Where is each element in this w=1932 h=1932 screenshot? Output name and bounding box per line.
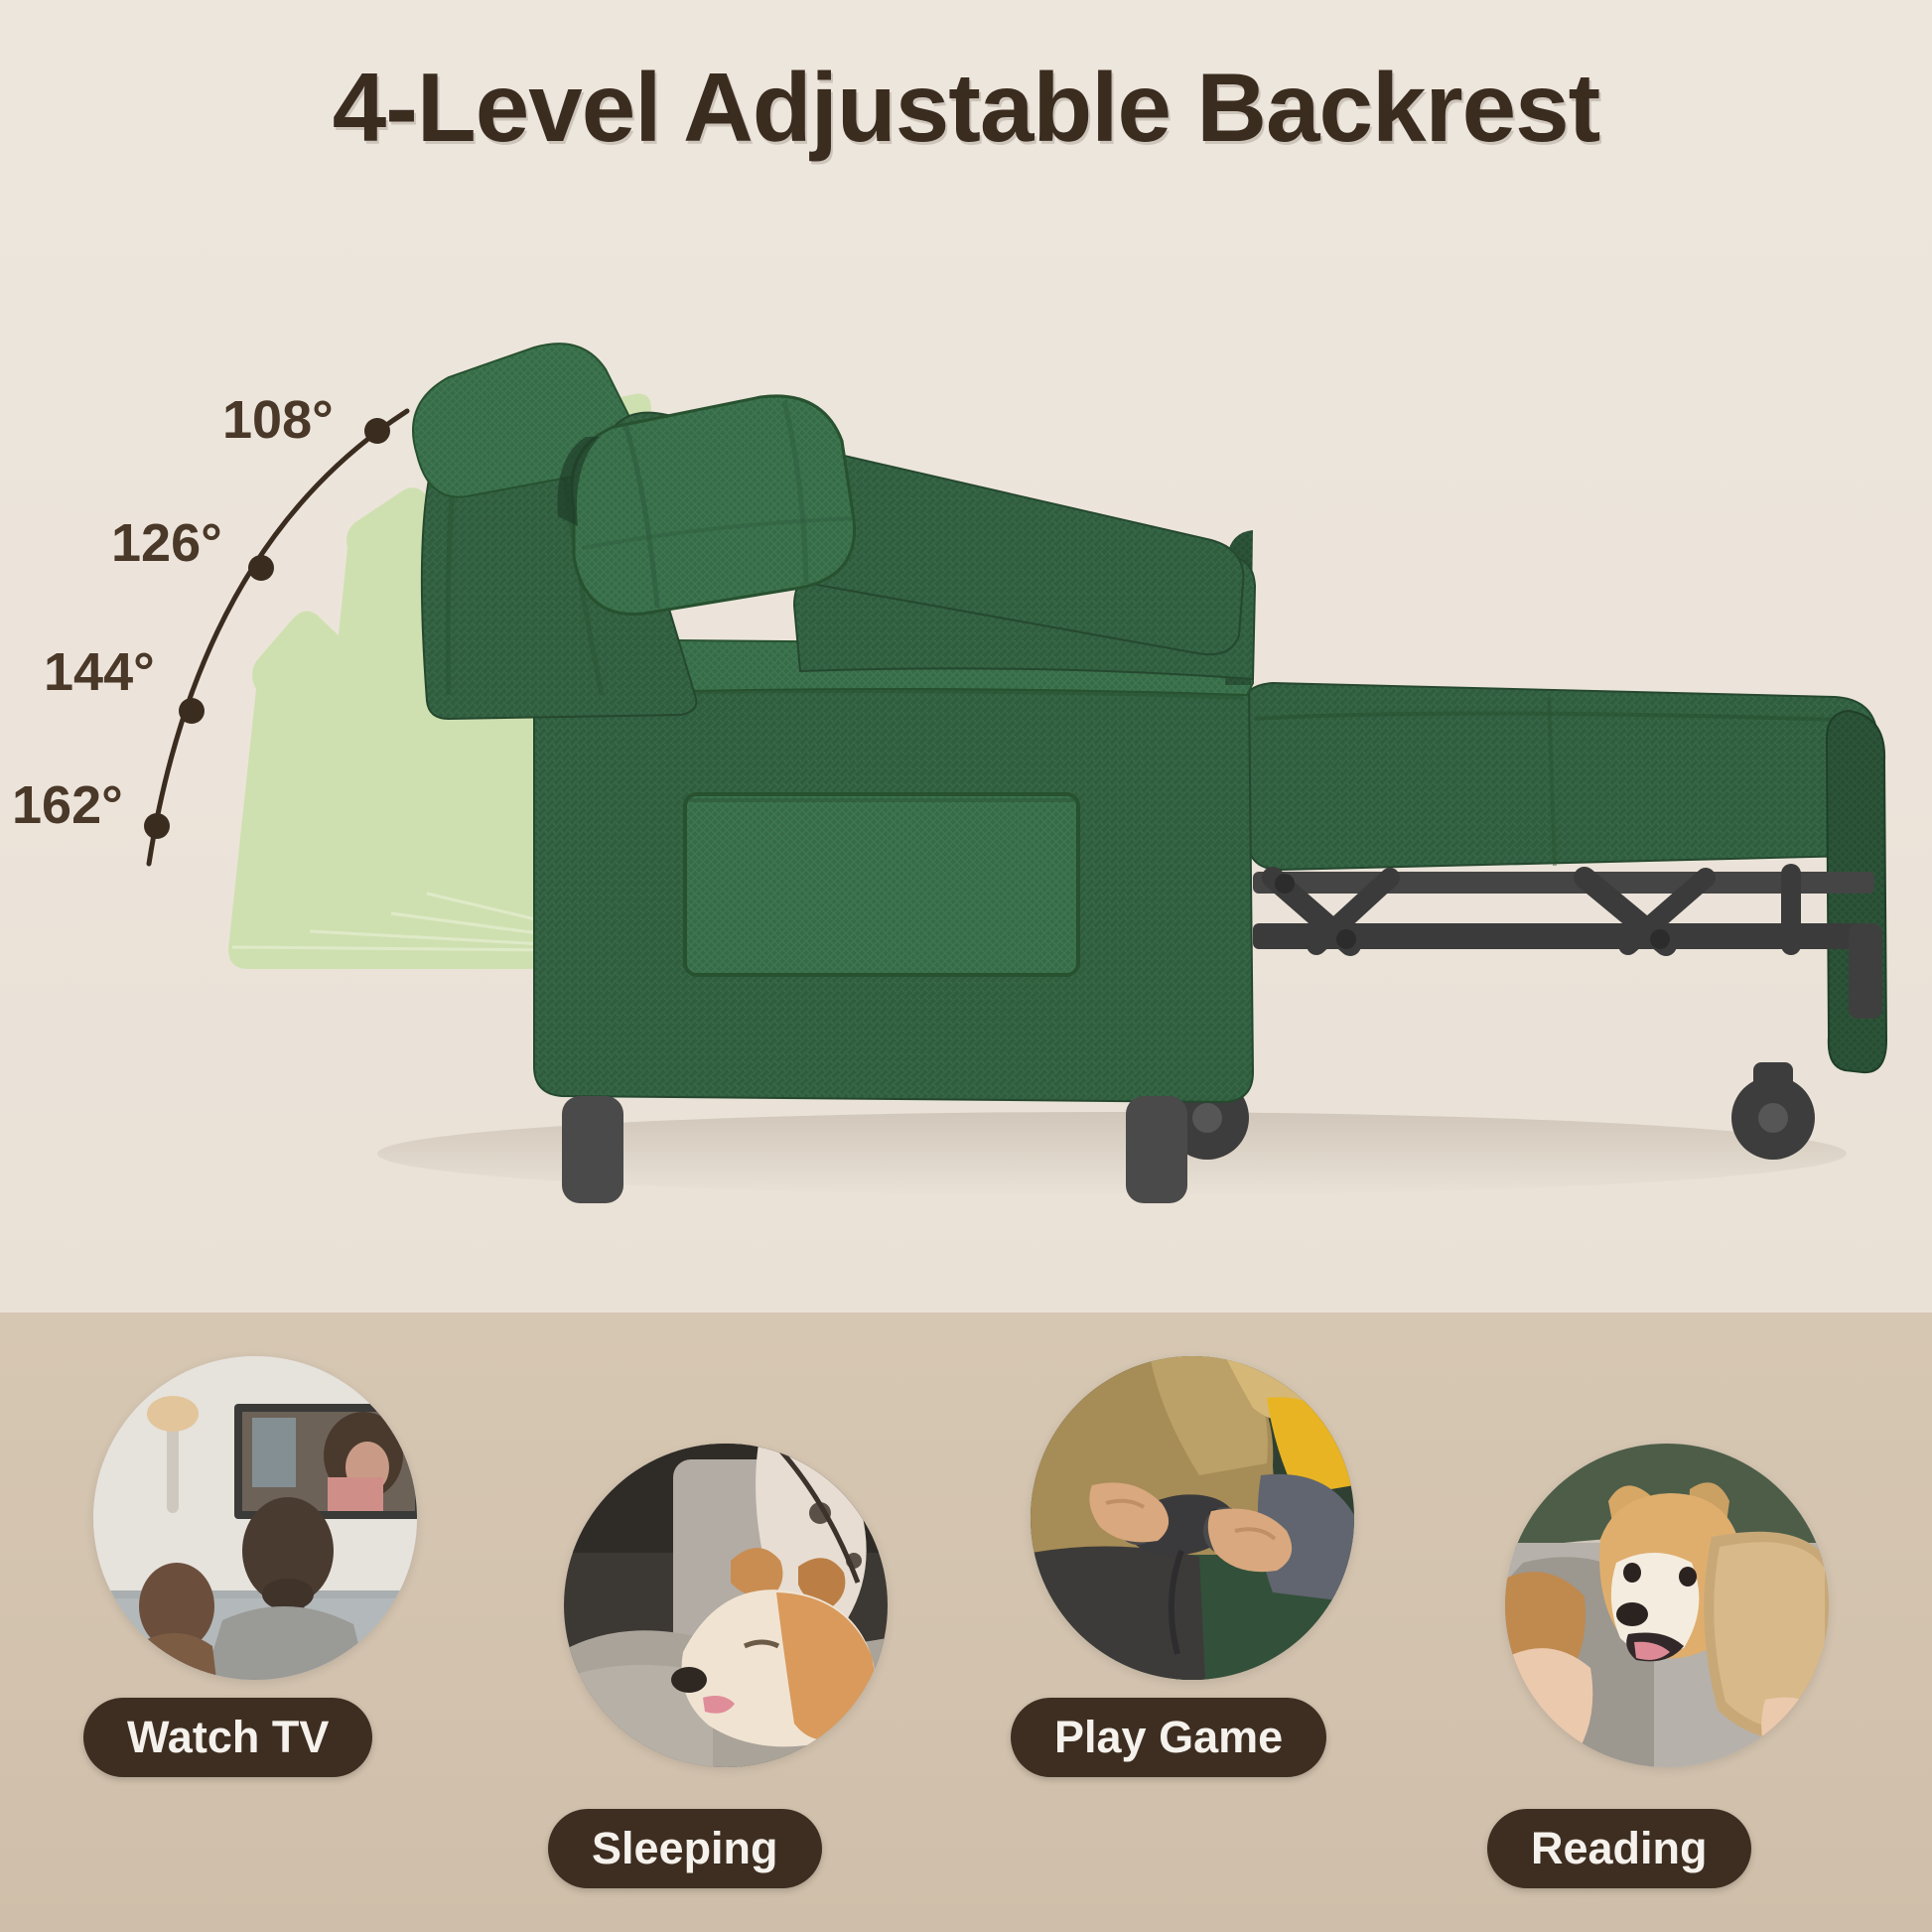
shiba-eye-left <box>1623 1563 1641 1583</box>
photo-watch-tv <box>93 1356 417 1680</box>
pill-watch-tv: Watch TV <box>83 1698 372 1777</box>
dog-nose <box>671 1667 707 1693</box>
hero-section: 4-Level Adjustable Backrest <box>0 0 1932 1312</box>
side-pocket <box>685 794 1078 975</box>
lifestyle-section: Watch TV S <box>0 1312 1932 1932</box>
pill-label-play-game: Play Game <box>1054 1712 1283 1763</box>
metal-support-frame <box>1253 872 1882 1019</box>
shiba-eye-right <box>1679 1567 1697 1587</box>
shiba-nose <box>1616 1602 1648 1626</box>
pill-play-game: Play Game <box>1011 1698 1326 1777</box>
pill-label-reading: Reading <box>1531 1823 1708 1874</box>
photo-reading <box>1505 1444 1829 1767</box>
sofa-illustration <box>0 0 1932 1312</box>
pill-reading: Reading <box>1487 1809 1751 1888</box>
photo-play-game <box>1031 1356 1354 1680</box>
frame-leg-right <box>1849 923 1882 1019</box>
leg-mid <box>1126 1096 1187 1203</box>
infographic-page: 4-Level Adjustable Backrest <box>0 0 1932 1932</box>
pill-sleeping: Sleeping <box>548 1809 822 1888</box>
pill-label-watch-tv: Watch TV <box>127 1712 329 1763</box>
pill-label-sleeping: Sleeping <box>592 1823 778 1874</box>
floor-lamp <box>167 1418 179 1513</box>
photo-sleeping <box>564 1444 888 1767</box>
headrest-pillow <box>572 396 855 615</box>
leg-front <box>562 1096 623 1203</box>
